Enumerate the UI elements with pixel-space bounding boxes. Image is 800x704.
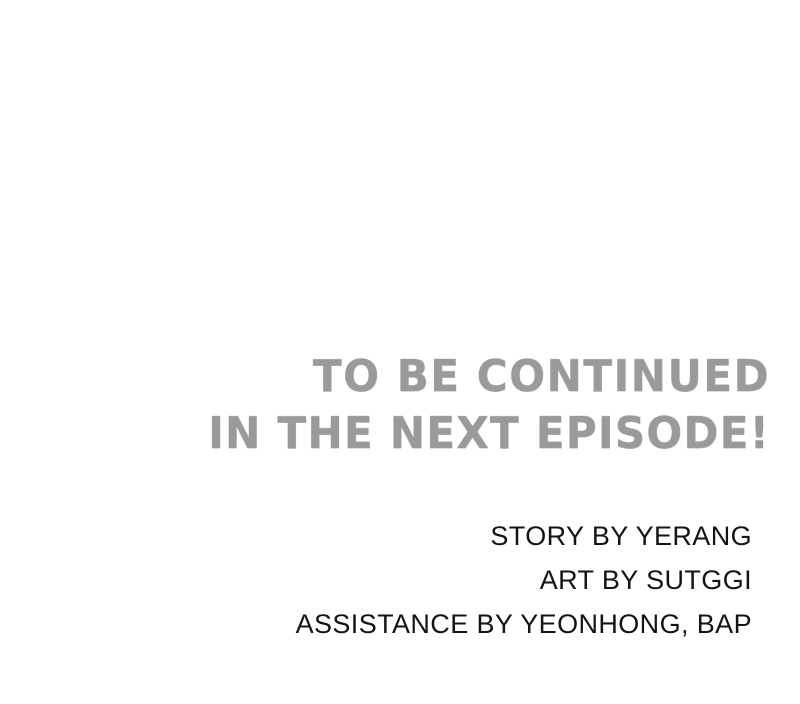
comic-end-card-page: TO BE CONTINUED IN THE NEXT EPISODE! STO… [0,0,800,704]
blank-artwork-area [0,0,800,340]
to-be-continued-headline: TO BE CONTINUED IN THE NEXT EPISODE! [0,348,770,462]
credit-line-story: STORY BY YERANG [0,514,752,558]
headline-line-2: IN THE NEXT EPISODE! [31,405,770,462]
footer-blank-space [0,648,800,704]
credits-block: STORY BY YERANG ART BY SUTGGI ASSISTANCE… [0,514,752,646]
credit-line-assistance: ASSISTANCE BY YEONHONG, BAP [0,602,752,646]
headline-line-1: TO BE CONTINUED [31,348,770,405]
credit-line-art: ART BY SUTGGI [0,558,752,602]
